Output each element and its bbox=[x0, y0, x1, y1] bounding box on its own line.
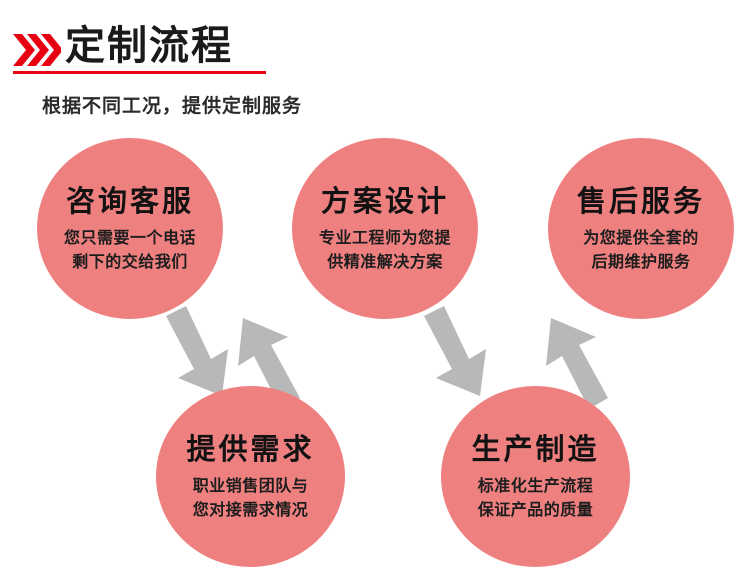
flow-node-solution-design[interactable]: 方案设计 专业工程师为您提 供精准解决方案 bbox=[292, 138, 478, 319]
flow-node-provide-requirements[interactable]: 提供需求 职业销售团队与 您对接需求情况 bbox=[156, 386, 345, 567]
arrow-design-to-production bbox=[424, 306, 486, 396]
arrow-consult-to-requirements bbox=[166, 306, 228, 396]
flow-node-desc-line1: 专业工程师为您提 bbox=[319, 226, 451, 250]
flow-node-consult-service[interactable]: 咨询客服 您只需要一个电话 剩下的交给我们 bbox=[37, 138, 223, 319]
flow-node-desc-line1: 标准化生产流程 bbox=[478, 474, 594, 498]
flow-node-title: 生产制造 bbox=[471, 432, 599, 466]
flow-node-desc-line2: 后期维护服务 bbox=[591, 250, 690, 274]
flow-node-desc-line2: 您对接需求情况 bbox=[193, 498, 309, 522]
flow-node-title: 提供需求 bbox=[186, 432, 314, 466]
flow-node-desc-line2: 供精准解决方案 bbox=[327, 250, 443, 274]
flow-node-title: 咨询客服 bbox=[66, 184, 194, 218]
flow-node-desc-line1: 您只需要一个电话 bbox=[64, 226, 196, 250]
flow-node-desc-line1: 为您提供全套的 bbox=[583, 226, 699, 250]
flow-node-title: 方案设计 bbox=[321, 184, 449, 218]
flow-node-desc-line2: 剩下的交给我们 bbox=[72, 250, 188, 274]
flow-node-production-manufacturing[interactable]: 生产制造 标准化生产流程 保证产品的质量 bbox=[441, 386, 630, 567]
flow-node-after-sales-service[interactable]: 售后服务 为您提供全套的 后期维护服务 bbox=[548, 138, 734, 319]
flow-node-desc-line2: 保证产品的质量 bbox=[478, 498, 594, 522]
flow-node-title: 售后服务 bbox=[577, 184, 705, 218]
process-flow-diagram: 咨询客服 您只需要一个电话 剩下的交给我们 方案设计 专业工程师为您提 供精准解… bbox=[0, 0, 750, 588]
flow-node-desc-line1: 职业销售团队与 bbox=[193, 474, 309, 498]
